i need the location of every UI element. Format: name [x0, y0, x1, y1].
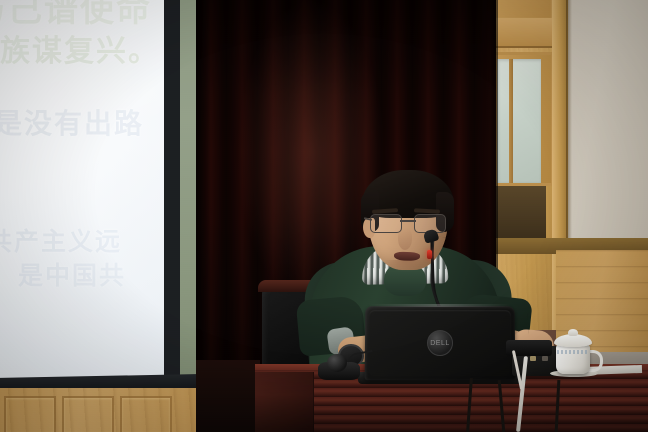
door-mullion: [509, 59, 513, 183]
microphone-status-led: [427, 250, 432, 259]
door-frosted-glass: [497, 59, 541, 183]
wainscot-panel-2: [62, 396, 114, 432]
podium-left-shadow: [196, 360, 260, 432]
console-led-2: [542, 356, 548, 361]
door-rail: [488, 18, 562, 48]
door-glass-frame: [490, 52, 554, 186]
slide-text-line-4: ，共产主义远: [0, 222, 122, 258]
projection-screen-frame: 与己谱使命 民族谋复兴。 族是没有出路 ，共产主义远 想，是中国共: [0, 0, 180, 394]
presenter-nose: [398, 228, 412, 250]
slide-text-line-5: 想，是中国共: [0, 256, 126, 292]
dell-logo: DELL: [427, 330, 453, 356]
projection-screen-surface: 与己谱使命 民族谋复兴。 族是没有出路 ，共产主义远 想，是中国共: [0, 0, 164, 382]
slide-text-line-2: 民族谋复兴。: [0, 26, 160, 70]
presenter-chin-shadow: [384, 260, 428, 272]
photograph-scene: 与己谱使命 民族谋复兴。 族是没有出路 ，共产主义远 想，是中国共: [0, 0, 648, 432]
wainscot-panel-3: [120, 396, 172, 432]
console-led-1: [530, 356, 536, 361]
lidded-teacup: [556, 344, 590, 374]
desk-microphone-capsule: [327, 354, 347, 372]
wainscot-panel-1: [4, 396, 56, 432]
teacup-lid-knob: [568, 329, 578, 336]
teacup-pattern: [557, 350, 588, 354]
eyeglass-bridge: [400, 220, 416, 222]
eyeglass-lens-left: [370, 214, 402, 233]
laptop-hinge: [368, 304, 510, 307]
slide-text-line-3: 族是没有出路: [0, 102, 144, 142]
left-wainscot: [0, 388, 206, 432]
laptop-computer[interactable]: DELL: [365, 306, 516, 380]
door-top-panel: [492, 0, 554, 20]
